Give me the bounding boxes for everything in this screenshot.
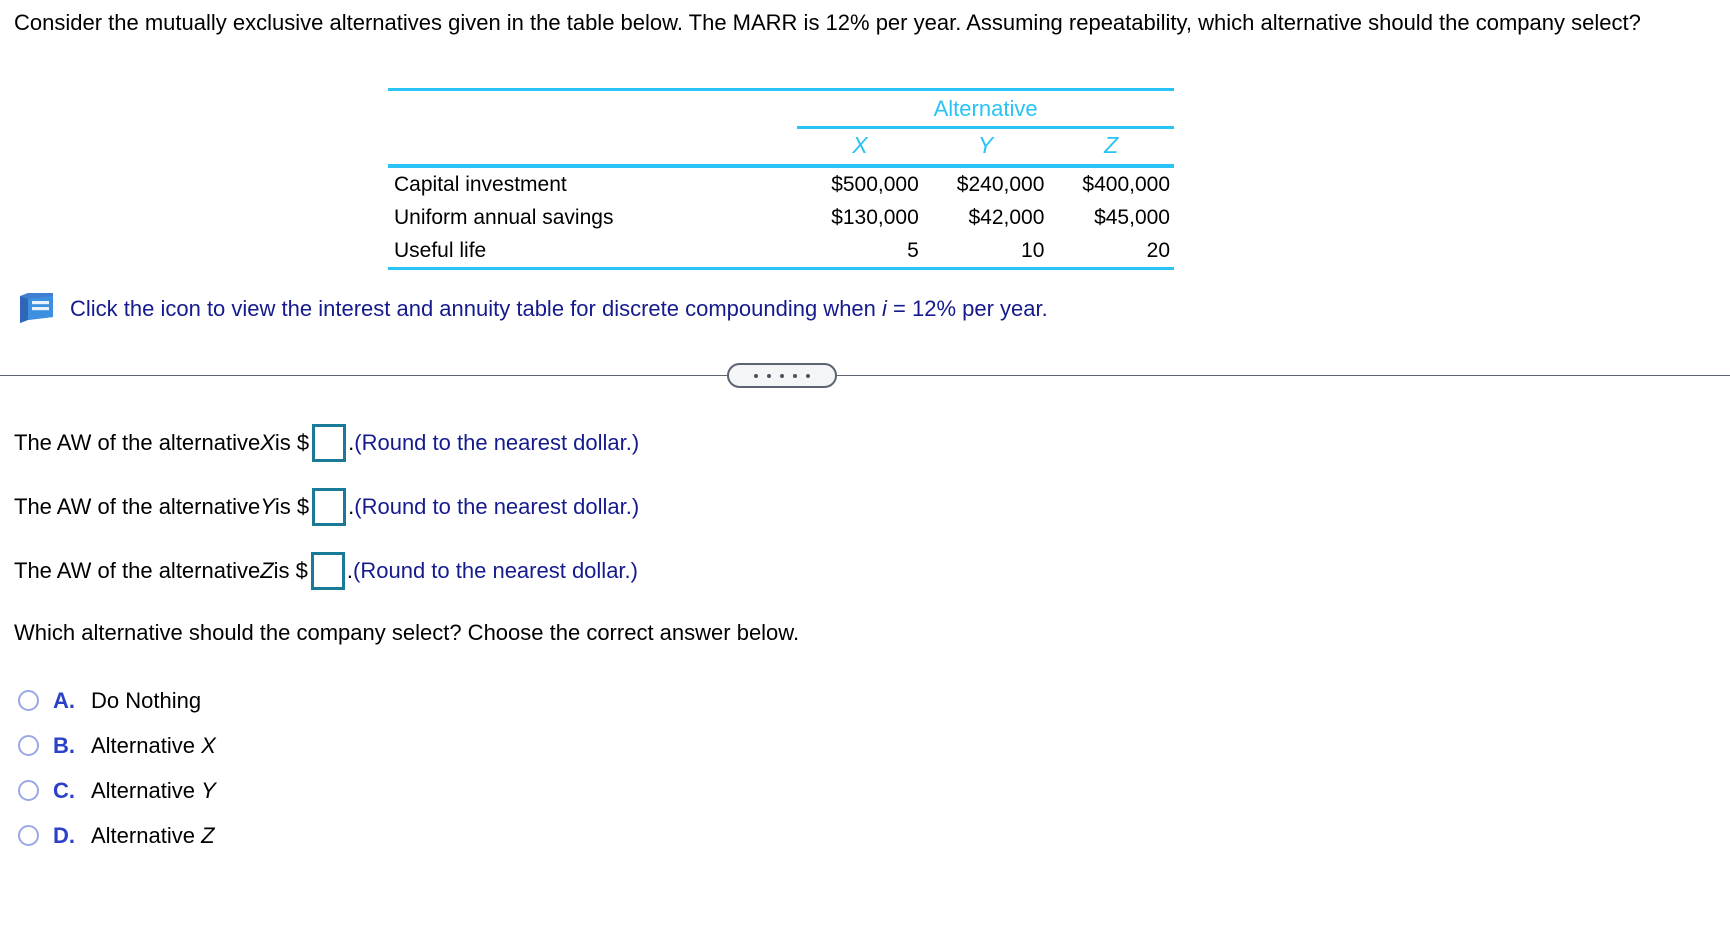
answer-y-mid: is $ <box>275 494 309 520</box>
answer-x-alt-label: X <box>260 430 275 456</box>
choice-text-b: Alternative X <box>91 733 216 759</box>
choice-b-suffix: X <box>201 733 216 758</box>
choice-b-label: Alternative <box>91 733 201 758</box>
pill-dot <box>754 374 758 378</box>
alternatives-table: Alternative X Y Z Capital investment $50… <box>388 88 1174 270</box>
link-text-before: Click the icon to view the interest and … <box>70 296 882 321</box>
table-group-header-row: Alternative <box>388 91 1174 126</box>
answer-choices: A. Do Nothing B. Alternative X C. Altern… <box>18 678 216 858</box>
cell-useful-life-z: 20 <box>1048 234 1174 267</box>
answer-row-z: The AW of the alternative Z is $. (Round… <box>14 552 638 590</box>
cell-uniform-annual-savings-y: $42,000 <box>923 201 1049 234</box>
multiple-choice-question: Which alternative should the company sel… <box>14 620 799 646</box>
row-label-useful-life: Useful life <box>388 234 797 267</box>
section-divider <box>0 356 1730 396</box>
row-label-uniform-annual-savings: Uniform annual savings <box>388 201 797 234</box>
choice-d-label: Alternative <box>91 823 201 848</box>
answer-x-lead: The AW of the alternative <box>14 430 260 456</box>
cell-useful-life-y: 10 <box>923 234 1049 267</box>
answer-x-mid: is $ <box>275 430 309 456</box>
cell-uniform-annual-savings-z: $45,000 <box>1048 201 1174 234</box>
pill-dot <box>780 374 784 378</box>
row-label-capital-investment: Capital investment <box>388 168 797 201</box>
answer-z-alt-label: Z <box>260 558 273 584</box>
answer-y-alt-label: Y <box>260 494 275 520</box>
answer-input-z[interactable] <box>311 552 345 590</box>
table-header-x: X <box>797 129 923 164</box>
answer-z-mid: is $ <box>274 558 308 584</box>
interest-table-link-row[interactable]: Click the icon to view the interest and … <box>16 292 1048 326</box>
divider-line <box>0 375 1730 376</box>
book-icon[interactable] <box>16 292 56 326</box>
radio-button-a[interactable] <box>18 690 39 711</box>
cell-useful-life-x: 5 <box>797 234 923 267</box>
choice-option-d[interactable]: D. Alternative Z <box>18 813 216 858</box>
divider-expand-pill[interactable] <box>727 363 837 388</box>
table-row: Uniform annual savings $130,000 $42,000 … <box>388 201 1174 234</box>
table-header-spacer <box>388 129 797 164</box>
answer-y-hint: (Round to the nearest dollar.) <box>354 494 639 520</box>
choice-c-suffix: Y <box>201 778 216 803</box>
problem-statement: Consider the mutually exclusive alternat… <box>14 8 1714 38</box>
radio-button-d[interactable] <box>18 825 39 846</box>
choice-letter-c: C. <box>53 778 91 804</box>
choice-d-suffix: Z <box>201 823 214 848</box>
choice-letter-d: D. <box>53 823 91 849</box>
table-rule-bottom-row <box>388 267 1174 270</box>
table-header-z: Z <box>1048 129 1174 164</box>
alternatives-data-table: Alternative X Y Z Capital investment $50… <box>388 88 1174 270</box>
pill-dot <box>767 374 771 378</box>
cell-uniform-annual-savings-x: $130,000 <box>797 201 923 234</box>
answer-z-lead: The AW of the alternative <box>14 558 260 584</box>
cell-capital-investment-y: $240,000 <box>923 168 1049 201</box>
answer-input-y[interactable] <box>312 488 346 526</box>
answer-input-x[interactable] <box>312 424 346 462</box>
choice-letter-a: A. <box>53 688 91 714</box>
answer-x-hint: (Round to the nearest dollar.) <box>354 430 639 456</box>
choice-text-d: Alternative Z <box>91 823 215 849</box>
choice-option-a[interactable]: A. Do Nothing <box>18 678 216 723</box>
answer-row-y: The AW of the alternative Y is $. (Round… <box>14 488 639 526</box>
table-column-header-row: X Y Z <box>388 129 1174 164</box>
cell-capital-investment-x: $500,000 <box>797 168 923 201</box>
table-row: Capital investment $500,000 $240,000 $40… <box>388 168 1174 201</box>
choice-text-c: Alternative Y <box>91 778 216 804</box>
link-text-after: = 12% per year. <box>887 296 1048 321</box>
interest-table-link-text[interactable]: Click the icon to view the interest and … <box>70 296 1048 322</box>
radio-button-b[interactable] <box>18 735 39 756</box>
radio-button-c[interactable] <box>18 780 39 801</box>
pill-dot <box>793 374 797 378</box>
table-group-header: Alternative <box>797 91 1174 126</box>
pill-dot <box>806 374 810 378</box>
answer-y-lead: The AW of the alternative <box>14 494 260 520</box>
table-header-y: Y <box>923 129 1049 164</box>
choice-option-b[interactable]: B. Alternative X <box>18 723 216 768</box>
choice-c-label: Alternative <box>91 778 201 803</box>
table-rule-bottom <box>388 267 1174 270</box>
choice-text-a: Do Nothing <box>91 688 201 714</box>
answer-z-hint: (Round to the nearest dollar.) <box>353 558 638 584</box>
table-corner-cell <box>388 91 797 126</box>
choice-letter-b: B. <box>53 733 91 759</box>
answer-row-x: The AW of the alternative X is $. (Round… <box>14 424 639 462</box>
table-row: Useful life 5 10 20 <box>388 234 1174 267</box>
cell-capital-investment-z: $400,000 <box>1048 168 1174 201</box>
choice-a-label: Do Nothing <box>91 688 201 713</box>
choice-option-c[interactable]: C. Alternative Y <box>18 768 216 813</box>
